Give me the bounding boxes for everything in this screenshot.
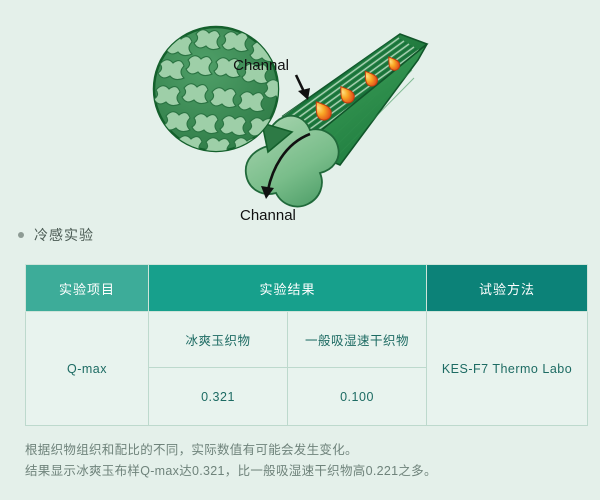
table-header-row: 实验项目 实验结果 试验方法: [26, 265, 588, 312]
bullet-dot-icon: [18, 232, 24, 238]
section-heading: 冷感实验: [18, 225, 94, 245]
channel-label-bottom: Channal: [240, 207, 296, 220]
channel-arrow-top-head: [298, 88, 310, 100]
cell-test-method: KES-F7 Thermo Labo: [427, 312, 588, 426]
cell-row-label-qmax: Q-max: [26, 312, 149, 426]
header-test-item: 实验项目: [26, 265, 149, 312]
cell-subheader-fabric-a: 冰爽玉织物: [149, 312, 288, 368]
header-test-result: 实验结果: [149, 265, 427, 312]
experiment-result-table: 实验项目 实验结果 试验方法 Q-max 冰爽玉织物 一般吸湿速干织物 KES-…: [25, 264, 588, 426]
cooling-fiber-illustration: Channal Channal: [0, 0, 600, 220]
footnotes: 根据织物组织和配比的不同，实际数值有可能会发生变化。 结果显示冰爽玉布样Q-ma…: [25, 440, 585, 482]
channel-label-top: Channal: [233, 57, 289, 74]
footnote-line-2: 结果显示冰爽玉布样Q-max达0.321，比一般吸湿速干织物高0.221之多。: [25, 461, 585, 482]
table-row-subheaders: Q-max 冰爽玉织物 一般吸湿速干织物 KES-F7 Thermo Labo: [26, 312, 588, 368]
section-heading-label: 冷感实验: [34, 225, 94, 245]
cell-value-fabric-a: 0.321: [149, 368, 288, 426]
cross-section-magnifier: [154, 27, 292, 158]
footnote-line-1: 根据织物组织和配比的不同，实际数值有可能会发生变化。: [25, 440, 585, 461]
cell-value-fabric-b: 0.100: [288, 368, 427, 426]
header-test-method: 试验方法: [427, 265, 588, 312]
cell-subheader-fabric-b: 一般吸湿速干织物: [288, 312, 427, 368]
